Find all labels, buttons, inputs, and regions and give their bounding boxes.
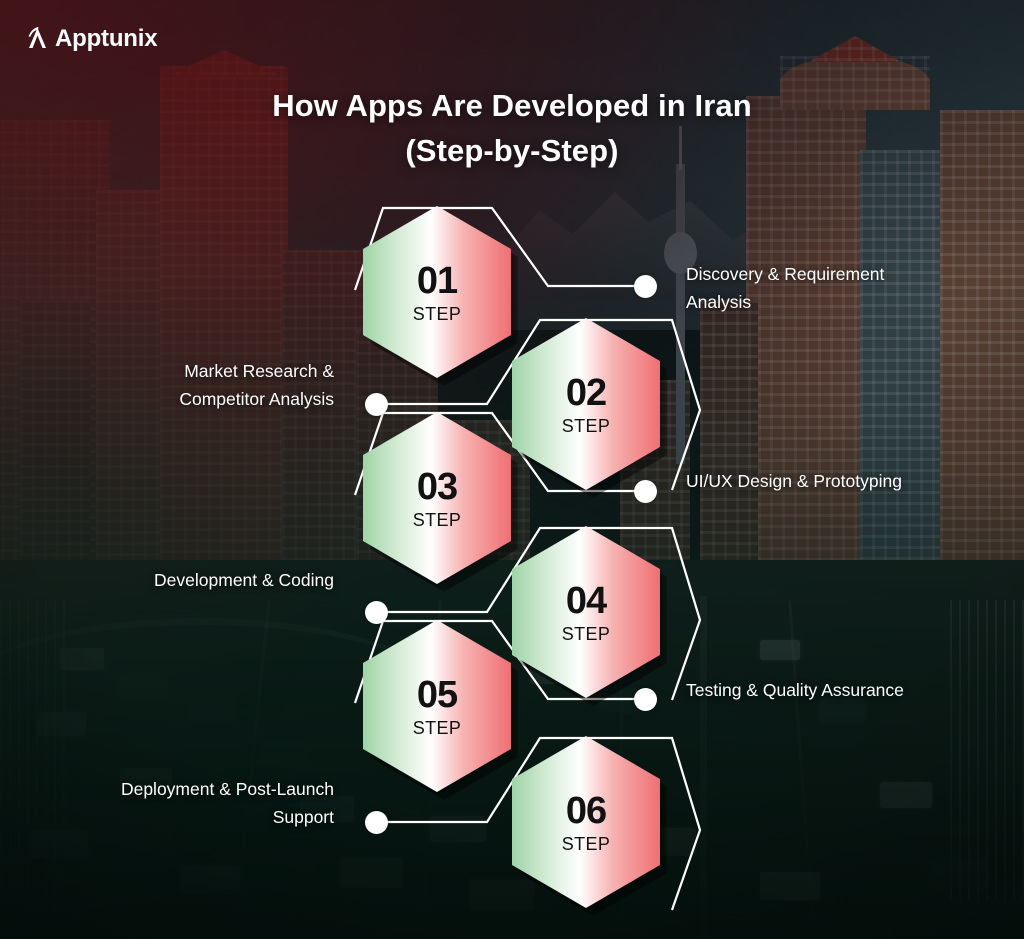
steps-diagram: 01 STEP Discovery & Requirement Analysis… <box>0 0 1024 939</box>
step-number: 05 <box>417 676 457 714</box>
step-hexagon-03[interactable]: 03 STEP <box>363 412 511 584</box>
step-word: STEP <box>562 625 611 643</box>
step-number: 04 <box>566 582 606 620</box>
step-hexagon-02[interactable]: 02 STEP <box>512 318 660 490</box>
step-number: 01 <box>417 262 457 300</box>
step-word: STEP <box>413 305 462 323</box>
step-number: 02 <box>566 374 606 412</box>
step-caption-06: Deployment & Post-Launch Support <box>104 775 334 831</box>
step-hexagon-04[interactable]: 04 STEP <box>512 526 660 698</box>
hexagon-label: 03 STEP <box>363 412 511 584</box>
connector-dot-03[interactable] <box>634 480 657 503</box>
step-hexagon-01[interactable]: 01 STEP <box>363 206 511 378</box>
hexagon-label: 02 STEP <box>512 318 660 490</box>
step-hexagon-06[interactable]: 06 STEP <box>512 736 660 908</box>
step-word: STEP <box>413 719 462 737</box>
step-number: 06 <box>566 792 606 830</box>
step-caption-02: Market Research & Competitor Analysis <box>104 357 334 413</box>
connector-dot-06[interactable] <box>365 811 388 834</box>
connector-dot-05[interactable] <box>634 688 657 711</box>
infographic-canvas: Apptunix How Apps Are Developed in Iran … <box>0 0 1024 939</box>
step-caption-03: UI/UX Design & Prototyping <box>686 467 916 495</box>
step-caption-01: Discovery & Requirement Analysis <box>686 260 916 316</box>
step-word: STEP <box>562 417 611 435</box>
hexagon-label: 01 STEP <box>363 206 511 378</box>
step-caption-05: Testing & Quality Assurance <box>686 676 916 704</box>
connector-dot-01[interactable] <box>634 275 657 298</box>
step-number: 03 <box>417 468 457 506</box>
step-word: STEP <box>413 511 462 529</box>
step-hexagon-05[interactable]: 05 STEP <box>363 620 511 792</box>
hexagon-label: 04 STEP <box>512 526 660 698</box>
step-word: STEP <box>562 835 611 853</box>
hexagon-label: 05 STEP <box>363 620 511 792</box>
hexagon-label: 06 STEP <box>512 736 660 908</box>
step-caption-04: Development & Coding <box>104 566 334 594</box>
